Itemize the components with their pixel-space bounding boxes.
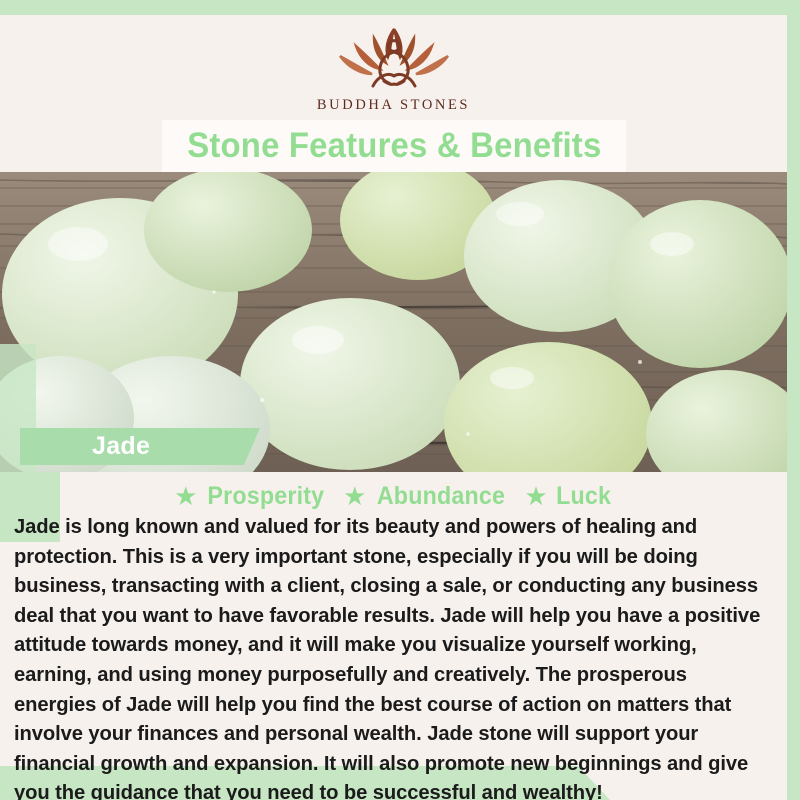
brand-name: BUDDHA STONES <box>317 97 470 114</box>
star-icon: ★ <box>524 483 547 509</box>
benefit-item-prosperity: ★ Prosperity <box>174 482 329 511</box>
decor-right-band <box>787 0 800 800</box>
stone-photo <box>0 172 787 472</box>
brand-logo: BUDDHA STONES <box>317 24 470 114</box>
decor-top-band <box>0 0 800 15</box>
infographic-card: BUDDHA STONES Stone Features & Benefits <box>0 0 800 800</box>
brand-header: BUDDHA STONES <box>0 15 787 122</box>
title-banner: Stone Features & Benefits <box>162 120 626 172</box>
stone-name: Jade <box>92 432 150 461</box>
stone-photo-illustration <box>0 172 787 472</box>
benefit-label: Luck <box>556 482 611 511</box>
lotus-meditation-icon <box>326 24 462 94</box>
stone-description: Jade is long known and valued for its be… <box>14 512 774 800</box>
star-icon: ★ <box>174 483 197 509</box>
benefit-item-luck: ★ Luck <box>524 482 612 511</box>
benefit-label: Prosperity <box>208 482 325 511</box>
benefit-label: Abundance <box>377 482 505 511</box>
page-title: Stone Features & Benefits <box>187 126 601 166</box>
stone-name-band: Jade <box>20 428 260 465</box>
star-icon: ★ <box>343 483 366 509</box>
benefits-row: ★ Prosperity ★ Abundance ★ Luck <box>0 478 787 514</box>
benefit-item-abundance: ★ Abundance <box>343 482 510 511</box>
